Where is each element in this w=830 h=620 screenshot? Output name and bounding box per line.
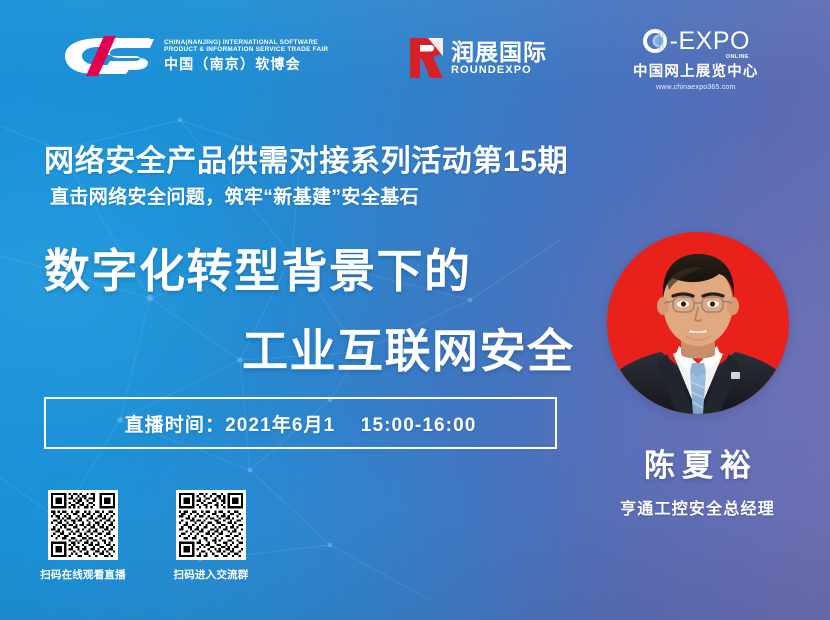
speaker-avatar xyxy=(607,232,789,414)
cis-chinese-name: 中国（南京）软博会 xyxy=(164,57,328,72)
broadcast-time-text: 直播时间：2021年6月1 15:00-16:00 xyxy=(125,410,477,437)
qr-group-icon[interactable] xyxy=(176,490,246,560)
eexpo-website-url: www.chinaexpo365.com xyxy=(656,84,736,91)
cis-logo-text: CHINA(NANJING) INTERNATIONAL SOFTWARE PR… xyxy=(164,40,328,72)
eexpo-online-badge: ONLINE xyxy=(726,55,749,61)
speaker-title: 亨通工控安全总经理 xyxy=(620,495,775,519)
roundexpo-chinese-name: 润展国际 xyxy=(451,40,547,64)
event-title: 网络安全产品供需对接系列活动第15期 xyxy=(44,136,568,180)
eexpo-wordmark: -EXPO ONLINE xyxy=(670,29,750,54)
broadcast-time-box: 直播时间：2021年6月1 15:00-16:00 xyxy=(44,397,557,449)
headline-line-2: 工业互联网安全 xyxy=(242,315,575,381)
eexpo-wordmark-row: -EXPO ONLINE xyxy=(642,28,750,54)
cis-mark-icon xyxy=(58,34,154,78)
speaker-block: 陈夏裕 亨通工控安全总经理 xyxy=(590,232,805,519)
logo-strip: CHINA(NANJING) INTERNATIONAL SOFTWARE PR… xyxy=(0,0,830,108)
eexpo-chinese-name: 中国网上展览中心 xyxy=(633,60,759,81)
roundexpo-mark-icon xyxy=(408,36,444,80)
eexpo-logo: -EXPO ONLINE 中国网上展览中心 www.chinaexpo365.c… xyxy=(633,28,759,91)
headline-line-1: 数字化转型背景下的 xyxy=(44,235,472,301)
speaker-name: 陈夏裕 xyxy=(637,440,758,485)
qr-group-caption: 扫码进入交流群 xyxy=(174,567,249,582)
cis-logo: CHINA(NANJING) INTERNATIONAL SOFTWARE PR… xyxy=(58,34,328,78)
roundexpo-logo: 润展国际 ROUNDEXPO xyxy=(408,36,547,80)
eexpo-globe-icon xyxy=(642,28,668,54)
qr-item-live[interactable]: 扫码在线观看直播 xyxy=(48,490,118,582)
qr-live-caption: 扫码在线观看直播 xyxy=(40,567,126,582)
qr-item-group[interactable]: 扫码进入交流群 xyxy=(176,490,246,582)
qr-live-icon[interactable] xyxy=(48,490,118,560)
roundexpo-english-name: ROUNDEXPO xyxy=(451,65,547,77)
qr-code-group: 扫码在线观看直播 xyxy=(48,490,246,582)
roundexpo-logo-text: 润展国际 ROUNDEXPO xyxy=(451,40,547,77)
promo-poster: CHINA(NANJING) INTERNATIONAL SOFTWARE PR… xyxy=(0,0,830,620)
cis-english-line2: PRODUCT & INFORMATION SERVICE TRADE FAIR xyxy=(164,47,328,54)
eexpo-wordmark-text: -EXPO xyxy=(670,27,750,55)
event-subtitle: 直击网络安全问题，筑牢“新基建”安全基石 xyxy=(50,182,419,209)
